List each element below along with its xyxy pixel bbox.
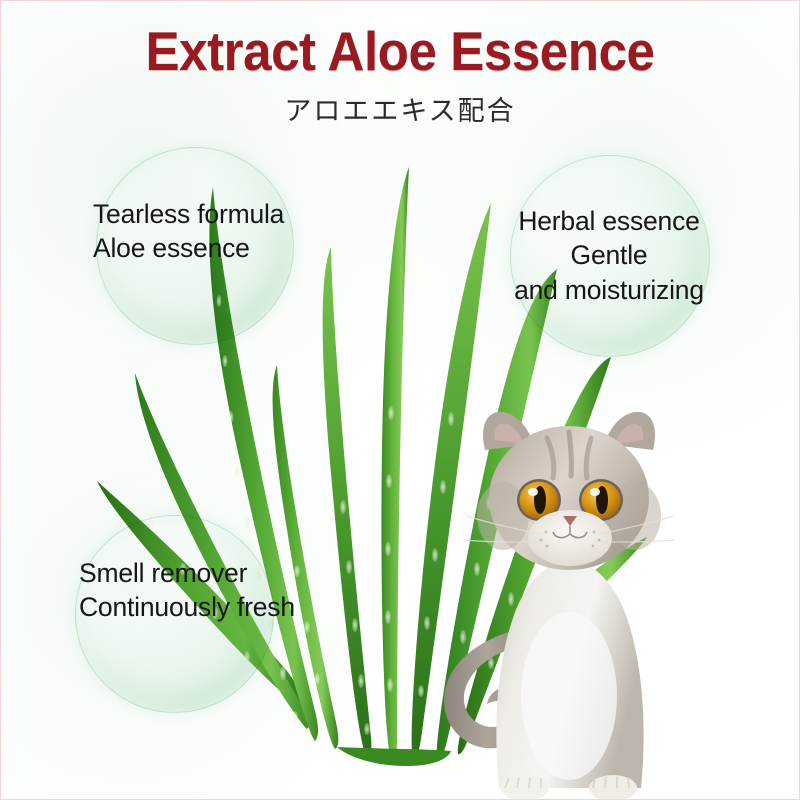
feature-label-tearless-formula: Tearless formula Aloe essence [93,197,313,266]
aloe-base [337,747,451,766]
promo-poster: Tearless formula Aloe essence Herbal ess… [0,0,800,800]
feature-label-herbal-essence: Herbal essence Gentle and moisturizing [506,204,712,307]
aloe-leaf [323,247,372,758]
cat-paw [589,775,637,800]
feature-label-smell-remover: Smell remover Continuously fresh [79,556,305,625]
page-title: Extract Aloe Essence [29,23,771,79]
page-subtitle: アロエエキス配合 [1,89,799,128]
exotic-shorthair-cat [441,396,691,800]
title-block: Extract Aloe Essence アロエエキス配合 [1,23,799,128]
cat-chest [521,612,617,780]
aloe-leaf [381,167,409,762]
